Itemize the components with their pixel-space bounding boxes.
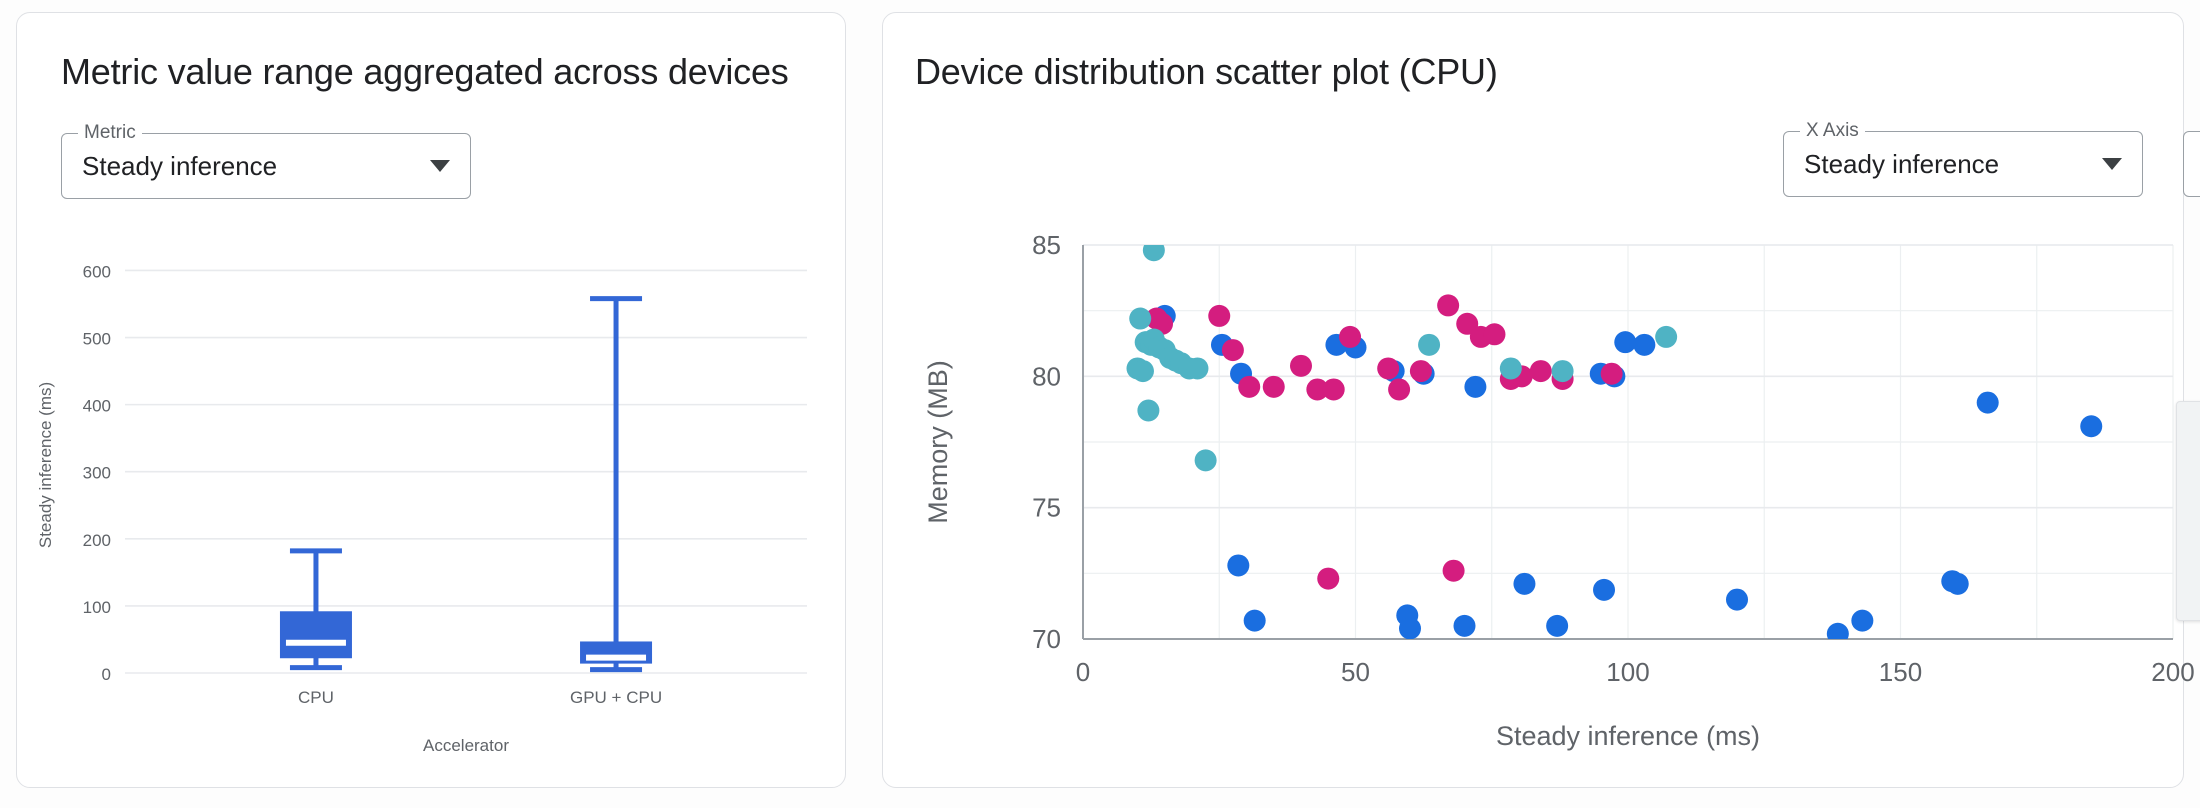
scatter-point[interactable]	[1443, 560, 1465, 582]
scatter-point[interactable]	[1410, 360, 1432, 382]
scatter-point[interactable]	[1132, 360, 1154, 382]
svg-text:200: 200	[2151, 657, 2194, 687]
svg-text:400: 400	[83, 397, 111, 416]
scatter-point[interactable]	[1827, 623, 1849, 645]
page-title-metric-range: Metric value range aggregated across dev…	[61, 51, 789, 93]
svg-text:Memory (MB): Memory (MB)	[923, 360, 953, 524]
svg-text:Accelerator: Accelerator	[423, 736, 509, 755]
scatter-point[interactable]	[1377, 357, 1399, 379]
scatter-point[interactable]	[1546, 615, 1568, 637]
page-title-scatter: Device distribution scatter plot (CPU)	[915, 51, 1498, 93]
scatter-point[interactable]	[1655, 326, 1677, 348]
svg-text:300: 300	[83, 464, 111, 483]
chevron-down-icon	[2102, 158, 2122, 170]
metric-select-label: Metric	[78, 122, 142, 144]
scatter-point[interactable]	[1947, 573, 1969, 595]
scatter-svg: 70758085050100150200Memory (MB)Steady in…	[883, 209, 2200, 769]
dashboard-page: Metric value range aggregated across dev…	[0, 0, 2200, 808]
scatter-point[interactable]	[1593, 579, 1615, 601]
scatter-point[interactable]	[1323, 378, 1345, 400]
svg-text:80: 80	[1032, 361, 1061, 391]
scatter-point[interactable]	[2080, 415, 2102, 437]
boxplot-box	[580, 299, 652, 670]
scatter-plot-card: Device distribution scatter plot (CPU) X…	[882, 12, 2184, 788]
svg-text:Steady inference (ms): Steady inference (ms)	[1496, 721, 1760, 751]
scatter-point[interactable]	[1418, 334, 1440, 356]
svg-text:70: 70	[1032, 624, 1061, 654]
svg-text:CPU: CPU	[298, 688, 334, 707]
svg-text:50: 50	[1341, 657, 1370, 687]
boxplot-svg: 0100200300400500600Steady inference (ms)…	[17, 223, 845, 763]
scatter-point[interactable]	[1483, 323, 1505, 345]
scatter-point[interactable]	[1454, 615, 1476, 637]
svg-text:Steady inference (ms): Steady inference (ms)	[36, 382, 55, 548]
scatter-point[interactable]	[1208, 305, 1230, 327]
scatter-point[interactable]	[1186, 357, 1208, 379]
scatter-point[interactable]	[1614, 331, 1636, 353]
scatter-point[interactable]	[1552, 360, 1574, 382]
svg-text:200: 200	[83, 531, 111, 550]
scatter-point[interactable]	[1977, 392, 1999, 414]
scatter-point[interactable]	[1500, 357, 1522, 379]
scatter-point[interactable]	[1195, 449, 1217, 471]
scatter-point[interactable]	[1227, 554, 1249, 576]
scatter-point[interactable]	[1633, 334, 1655, 356]
scatter-point[interactable]	[1399, 617, 1421, 639]
scatter-point[interactable]	[1137, 399, 1159, 421]
chevron-down-icon	[430, 160, 450, 172]
svg-text:85: 85	[1032, 230, 1061, 260]
metric-range-card: Metric value range aggregated across dev…	[16, 12, 846, 788]
x-axis-select-label: X Axis	[1800, 120, 1865, 142]
boxplot-chart[interactable]: 0100200300400500600Steady inference (ms)…	[17, 223, 845, 763]
scatter-chart[interactable]: 70758085050100150200Memory (MB)Steady in…	[883, 209, 2200, 769]
scatter-point[interactable]	[1851, 610, 1873, 632]
scatter-point[interactable]	[1530, 360, 1552, 382]
scatter-point[interactable]	[1726, 589, 1748, 611]
scatter-point[interactable]	[1263, 376, 1285, 398]
scatter-point[interactable]	[1317, 568, 1339, 590]
svg-text:0: 0	[102, 665, 111, 684]
svg-text:GPU + CPU: GPU + CPU	[570, 688, 662, 707]
x-axis-select[interactable]: X Axis Steady inference	[1783, 131, 2143, 197]
svg-text:100: 100	[83, 598, 111, 617]
svg-text:500: 500	[83, 330, 111, 349]
svg-text:600: 600	[83, 262, 111, 281]
svg-text:150: 150	[1879, 657, 1922, 687]
scatter-point[interactable]	[1244, 610, 1266, 632]
scatter-point[interactable]	[1388, 378, 1410, 400]
x-axis-select-value: Steady inference	[1804, 149, 2088, 180]
boxplot-box	[280, 551, 352, 668]
svg-text:100: 100	[1606, 657, 1649, 687]
scatter-point[interactable]	[1464, 376, 1486, 398]
scatter-point[interactable]	[1143, 239, 1165, 261]
scatter-point[interactable]	[1238, 376, 1260, 398]
svg-text:0: 0	[1076, 657, 1090, 687]
scatter-point[interactable]	[1437, 294, 1459, 316]
metric-select-value: Steady inference	[82, 151, 416, 182]
scatter-point[interactable]	[1290, 355, 1312, 377]
svg-text:75: 75	[1032, 493, 1061, 523]
scatter-point[interactable]	[1129, 308, 1151, 330]
scatter-point[interactable]	[1222, 339, 1244, 361]
scatter-point[interactable]	[1339, 326, 1361, 348]
scatter-point[interactable]	[1513, 573, 1535, 595]
scatter-tooltip: Samsung Galaxy A51 - Steady inference (m…	[2176, 401, 2200, 621]
metric-select[interactable]: Metric Steady inference	[61, 133, 471, 199]
scatter-point[interactable]	[1601, 363, 1623, 385]
y-axis-select[interactable]: Y Axis Peak memory	[2183, 131, 2200, 197]
